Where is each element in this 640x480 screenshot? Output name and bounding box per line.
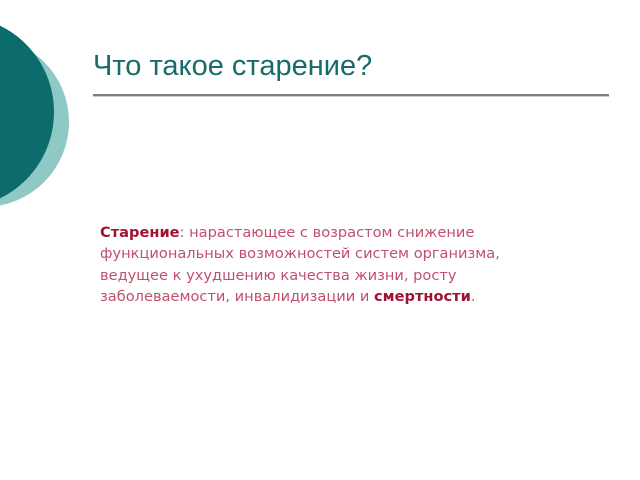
sentence-terminator: . (471, 288, 476, 305)
lead-separator: : (180, 224, 190, 241)
dark-teal-circle (0, 16, 54, 208)
slide-canvas: Что такое старение? Старение: нарастающе… (0, 0, 640, 480)
emphasis-term: смертности (374, 288, 471, 305)
body-block: Старение: нарастающее с возрастом снижен… (100, 207, 570, 322)
light-teal-circle (0, 37, 69, 207)
title-divider (93, 94, 609, 97)
definition-paragraph: Старение: нарастающее с возрастом снижен… (100, 222, 570, 308)
title-block: Что такое старение? (93, 48, 609, 97)
page-title: Что такое старение? (93, 48, 609, 84)
lead-term: Старение (100, 224, 180, 241)
